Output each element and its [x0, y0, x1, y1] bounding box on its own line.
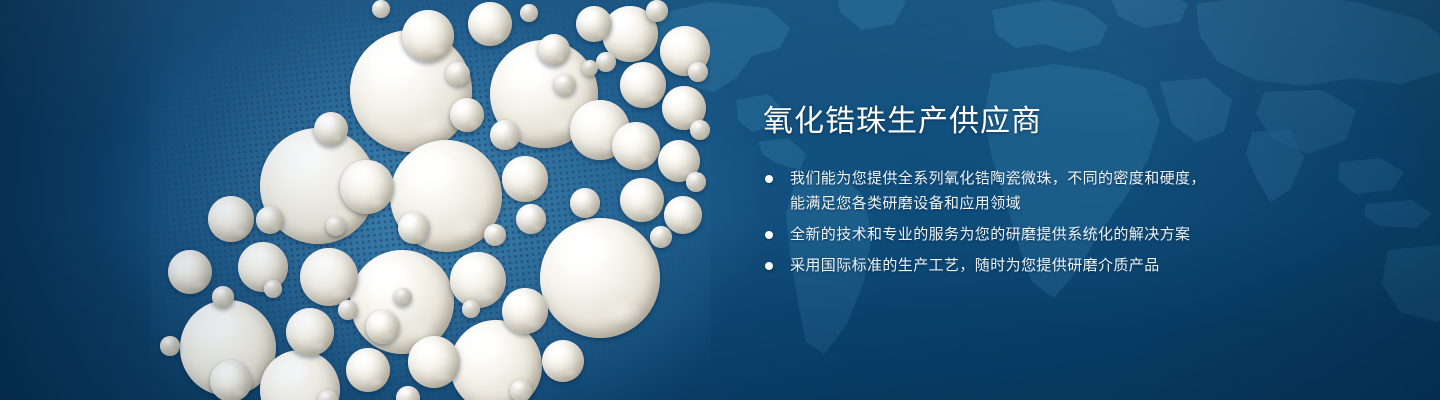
- bead: [340, 160, 394, 214]
- bead: [502, 156, 548, 202]
- feature-list-item: 采用国际标准的生产工艺，随时为您提供研磨介质产品: [763, 253, 1323, 278]
- bead: [398, 212, 430, 244]
- bead: [338, 300, 358, 320]
- bead: [664, 196, 702, 234]
- bead: [210, 360, 252, 400]
- bead: [582, 60, 598, 76]
- bead: [212, 286, 234, 308]
- bead: [570, 188, 600, 218]
- bead: [502, 288, 548, 334]
- bead: [520, 4, 538, 22]
- bead: [554, 74, 576, 96]
- bead: [346, 348, 390, 392]
- feature-list: 我们能为您提供全系列氧化锆陶瓷微珠，不同的密度和硬度， 能满足您各类研磨设备和应…: [763, 166, 1323, 278]
- bullet-dot-icon: [765, 231, 773, 239]
- bead: [484, 224, 506, 246]
- bead: [286, 308, 334, 356]
- bead: [620, 62, 666, 108]
- bead: [650, 226, 672, 248]
- bead: [576, 6, 612, 42]
- bead: [690, 120, 710, 140]
- bead: [408, 336, 460, 388]
- bead: [314, 112, 348, 146]
- bead: [160, 336, 180, 356]
- bead: [612, 122, 660, 170]
- banner-content: 氧化锆珠生产供应商 我们能为您提供全系列氧化锆陶瓷微珠，不同的密度和硬度， 能满…: [763, 104, 1323, 278]
- bead: [300, 248, 358, 306]
- bead: [468, 2, 512, 46]
- bead: [446, 62, 470, 86]
- bullet-dot-icon: [765, 262, 773, 270]
- bead: [688, 62, 708, 82]
- bead: [620, 178, 664, 222]
- bead: [490, 120, 520, 150]
- bead: [510, 380, 532, 400]
- bullet-dot-icon: [765, 175, 773, 183]
- bead: [208, 196, 254, 242]
- feature-list-item: 我们能为您提供全系列氧化锆陶瓷微珠，不同的密度和硬度， 能满足您各类研磨设备和应…: [763, 166, 1323, 216]
- feature-text-line-2: 能满足您各类研磨设备和应用领域: [790, 191, 1323, 216]
- feature-text-line-1: 采用国际标准的生产工艺，随时为您提供研磨介质产品: [790, 257, 1160, 274]
- hero-banner: 氧化锆珠生产供应商 我们能为您提供全系列氧化锆陶瓷微珠，不同的密度和硬度， 能满…: [0, 0, 1440, 400]
- bead: [366, 310, 400, 344]
- bead: [450, 98, 484, 132]
- feature-list-item: 全新的技术和专业的服务为您的研磨提供系统化的解决方案: [763, 222, 1323, 247]
- bead: [394, 288, 412, 306]
- bead: [516, 204, 546, 234]
- bead: [686, 172, 706, 192]
- bead: [450, 252, 506, 308]
- zirconia-beads-image: [150, 0, 710, 400]
- bead: [462, 300, 480, 318]
- bead: [542, 340, 584, 382]
- feature-text-line-1: 全新的技术和专业的服务为您的研磨提供系统化的解决方案: [790, 226, 1190, 243]
- bead: [538, 34, 570, 66]
- bead: [264, 280, 282, 298]
- bead: [402, 10, 454, 62]
- bead: [646, 0, 668, 22]
- bead: [326, 216, 346, 236]
- bead: [596, 52, 616, 72]
- banner-headline: 氧化锆珠生产供应商: [763, 104, 1323, 140]
- feature-text-line-1: 我们能为您提供全系列氧化锆陶瓷微珠，不同的密度和硬度，: [790, 170, 1206, 187]
- bead: [540, 218, 660, 338]
- bead: [168, 250, 212, 294]
- bead: [372, 0, 390, 18]
- bead: [256, 206, 284, 234]
